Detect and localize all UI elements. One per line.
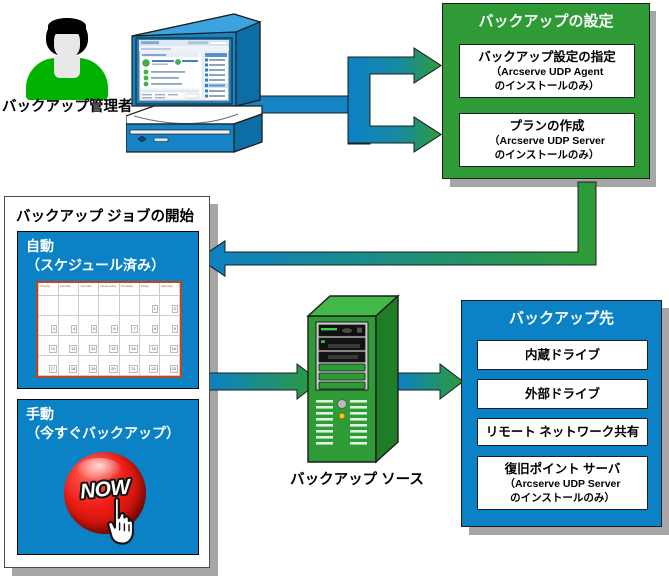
calendar-day-29[interactable]: 29	[139, 376, 159, 379]
calendar-day-empty	[99, 296, 119, 316]
settings-card-specify-backup-settings[interactable]: バックアップ設定の指定 （Arcserve UDP Agent のインストールの…	[459, 44, 635, 98]
calendar-day-20[interactable]: 20	[99, 356, 119, 376]
settings-card-1-line2: （Arcserve UDP Agent	[460, 65, 634, 79]
calendar-day-13[interactable]: 13	[99, 336, 119, 356]
settings-card-2-line3: のインストールのみ）	[460, 148, 634, 162]
calendar-week-row: 10111213141516	[39, 336, 180, 356]
dest-card-4-line1: 復旧ポイント サーバ	[478, 461, 647, 477]
manual-backup-now-section[interactable]: 手動 （今すぐバックアップ） NOW	[17, 399, 199, 555]
calendar-day-7[interactable]: 7	[119, 316, 139, 336]
hand-pointer-icon	[102, 496, 146, 546]
backup-admin-figure	[14, 18, 119, 98]
calendar-day-empty	[59, 296, 79, 316]
calendar-weekday-tuesday: Tuesday	[79, 283, 99, 296]
calendar-table: SundayMondayTuesdayWednesdayThursdayFrid…	[38, 283, 180, 378]
calendar-day-5[interactable]: 5	[79, 316, 99, 336]
calendar-day-6[interactable]: 6	[99, 316, 119, 336]
calendar-day-empty	[79, 296, 99, 316]
auto-scheduled-section[interactable]: 自動 （スケジュール済み） SundayMondayTuesdayWednesd…	[17, 231, 199, 389]
settings-card-create-plan[interactable]: プランの作成 （Arcserve UDP Server のインストールのみ）	[459, 113, 635, 167]
settings-card-2-line1: プランの作成	[460, 118, 634, 134]
calendar-day-11[interactable]: 11	[59, 336, 79, 356]
calendar-day-23[interactable]: 23	[159, 356, 179, 376]
backup-job-start-panel: バックアップ ジョブの開始 自動 （スケジュール済み） SundayMonday…	[4, 196, 210, 568]
calendar-day-30[interactable]: 30	[159, 376, 179, 379]
calendar-day-28[interactable]: 28	[119, 376, 139, 379]
calendar-week-row: 12	[39, 296, 180, 316]
person-hair-top-icon	[48, 18, 86, 34]
calendar-day-24[interactable]: 24	[39, 376, 59, 379]
calendar-weekday-monday: Monday	[59, 283, 79, 296]
backup-admin-label: バックアップ管理者	[2, 95, 133, 116]
settings-card-2-line2: （Arcserve UDP Server	[460, 134, 634, 148]
calendar-week-row: 3456789	[39, 316, 180, 336]
calendar-header-row: SundayMondayTuesdayWednesdayThursdayFrid…	[39, 283, 180, 296]
calendar-day-17[interactable]: 17	[39, 356, 59, 376]
calendar-day-8[interactable]: 8	[139, 316, 159, 336]
calendar-day-26[interactable]: 26	[79, 376, 99, 379]
dest-card-internal-drive[interactable]: 内蔵ドライブ	[477, 340, 648, 370]
backup-destination-panel: バックアップ先 内蔵ドライブ 外部ドライブ リモート ネットワーク共有 復旧ポイ…	[461, 300, 662, 527]
dest-card-recovery-point-server[interactable]: 復旧ポイント サーバ （Arcserve UDP Server のインストールの…	[477, 456, 648, 510]
calendar-day-empty	[39, 296, 59, 316]
calendar-weekday-wednesday: Wednesday	[99, 283, 119, 296]
calendar-day-2[interactable]: 2	[159, 296, 179, 316]
calendar-body: 1234567891011121314151617181920212223242…	[39, 296, 180, 379]
calendar-weekday-thursday: Thursday	[119, 283, 139, 296]
calendar-day-16[interactable]: 16	[159, 336, 179, 356]
calendar-day-18[interactable]: 18	[59, 356, 79, 376]
calendar-weekday-sunday: Sunday	[39, 283, 59, 296]
backup-source-server-icon	[304, 292, 410, 468]
calendar-image: SundayMondayTuesdayWednesdayThursdayFrid…	[36, 281, 182, 378]
dest-card-4-line3: のインストールのみ）	[478, 491, 647, 505]
calendar-day-1[interactable]: 1	[139, 296, 159, 316]
calendar-day-10[interactable]: 10	[39, 336, 59, 356]
calendar-day-25[interactable]: 25	[59, 376, 79, 379]
calendar-week-row: 24252627282930	[39, 376, 180, 379]
calendar-week-row: 17181920212223	[39, 356, 180, 376]
console-computer-icon	[126, 10, 266, 155]
settings-card-1-line1: バックアップ設定の指定	[460, 49, 634, 65]
calendar-day-27[interactable]: 27	[99, 376, 119, 379]
calendar-day-21[interactable]: 21	[119, 356, 139, 376]
calendar-day-19[interactable]: 19	[79, 356, 99, 376]
dest-card-2-label: 外部ドライブ	[478, 386, 647, 402]
dest-card-external-drive[interactable]: 外部ドライブ	[477, 379, 648, 409]
calendar-day-15[interactable]: 15	[139, 336, 159, 356]
backup-destination-title: バックアップ先	[462, 307, 661, 328]
backup-job-start-title: バックアップ ジョブの開始	[16, 205, 194, 226]
backup-now-button-graphic[interactable]: NOW	[50, 448, 168, 548]
auto-section-title: 自動 （スケジュール済み）	[26, 237, 165, 275]
dest-card-remote-network-share[interactable]: リモート ネットワーク共有	[477, 418, 648, 446]
calendar-day-3[interactable]: 3	[39, 316, 59, 336]
calendar-day-empty	[119, 296, 139, 316]
manual-title-line2: （今すぐバックアップ）	[26, 424, 180, 443]
settings-panel-title: バックアップの設定	[443, 10, 649, 31]
calendar-day-14[interactable]: 14	[119, 336, 139, 356]
settings-panel: バックアップの設定 バックアップ設定の指定 （Arcserve UDP Agen…	[442, 3, 650, 179]
diagram-canvas: バックアップ管理者	[0, 0, 669, 578]
calendar-day-9[interactable]: 9	[159, 316, 179, 336]
person-collar-icon	[54, 56, 80, 78]
dest-card-1-label: 内蔵ドライブ	[478, 347, 647, 363]
manual-title-line1: 手動	[26, 405, 180, 424]
calendar-day-4[interactable]: 4	[59, 316, 79, 336]
calendar-day-22[interactable]: 22	[139, 356, 159, 376]
auto-title-line2: （スケジュール済み）	[26, 256, 165, 275]
settings-card-1-line3: のインストールのみ）	[460, 79, 634, 93]
calendar-weekday-friday: Friday	[139, 283, 159, 296]
backup-admin-label-wrap: バックアップ管理者	[2, 95, 133, 116]
calendar-weekday-saturday: Saturday	[159, 283, 179, 296]
auto-title-line1: 自動	[26, 237, 165, 256]
manual-section-title: 手動 （今すぐバックアップ）	[26, 405, 180, 443]
dest-card-4-line2: （Arcserve UDP Server	[478, 477, 647, 491]
calendar-day-12[interactable]: 12	[79, 336, 99, 356]
dest-card-3-label: リモート ネットワーク共有	[478, 424, 647, 440]
